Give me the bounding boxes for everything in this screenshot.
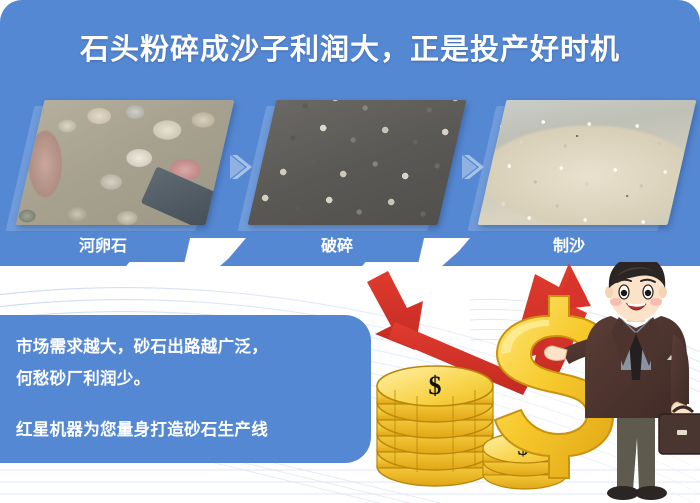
poster-canvas: 石头粉碎成沙子利润大，正是投产好时机: [0, 0, 700, 503]
finished-sand-photo: [478, 100, 697, 225]
process-step-3: [492, 100, 682, 225]
copy-line-3: 红星机器为您量身打造砂石生产线: [16, 416, 268, 440]
crushed-gravel-photo: [248, 100, 467, 225]
svg-text:$: $: [429, 371, 442, 400]
process-step-3-label: 制沙: [481, 232, 658, 262]
process-step-1-label: 河卵石: [15, 232, 192, 262]
chevron-right-icon: [460, 152, 486, 182]
marketing-copy-panel: 市场需求越大，砂石出路越广泛， 何愁砂厂利润少。 红星机器为您量身打造砂石生产线: [0, 315, 371, 463]
process-step-3-label-text: 制沙: [484, 232, 654, 262]
gold-coin-stack-large: $: [377, 366, 493, 486]
process-step-2: [262, 100, 452, 225]
process-step-1: [30, 100, 220, 225]
chevron-right-icon: [228, 152, 254, 182]
copy-line-2: 何愁砂厂利润少。: [16, 365, 150, 389]
businessman-profit-illustration: $ $: [355, 262, 700, 503]
river-pebbles-photo: [16, 100, 235, 225]
page-title: 石头粉碎成沙子利润大，正是投产好时机: [0, 26, 700, 68]
copy-line-1: 市场需求越大，砂石出路越广泛，: [16, 333, 268, 357]
process-step-1-label-text: 河卵石: [18, 232, 188, 262]
process-step-2-label-text: 破碎: [252, 232, 422, 262]
process-step-2-label: 破碎: [249, 232, 426, 262]
